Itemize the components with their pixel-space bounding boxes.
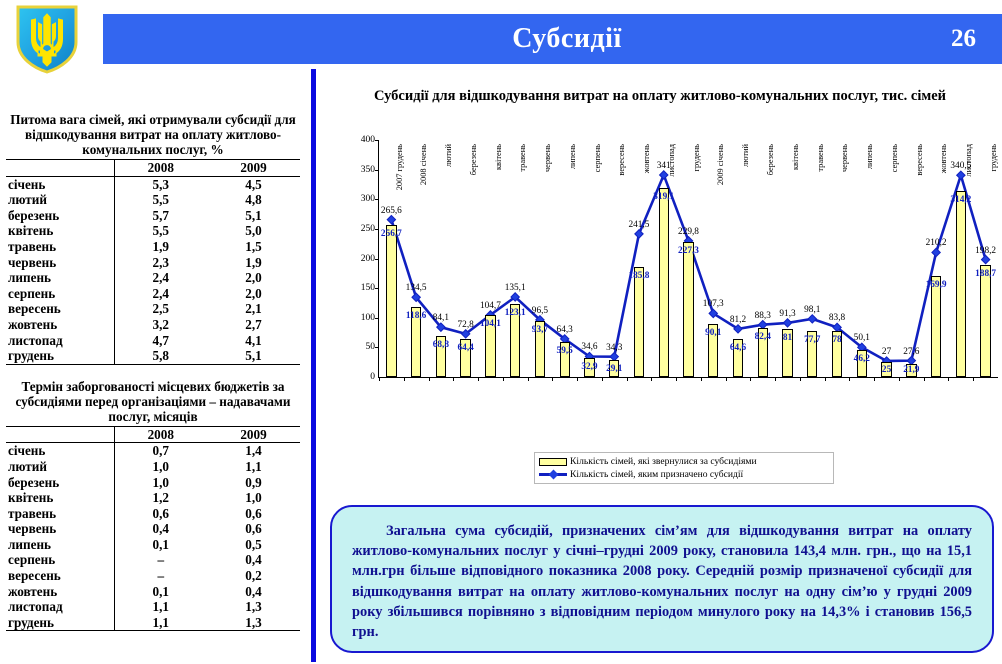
bar-value-label: 169,9 xyxy=(926,280,947,290)
table-row: травень1,91,5 xyxy=(6,239,300,255)
cell-2009: 0,6 xyxy=(207,521,300,537)
x-axis-tick-label: березень xyxy=(469,144,478,175)
cell-month: квітень xyxy=(6,223,114,239)
bar-value-label: 256,7 xyxy=(381,229,402,239)
cell-2009: 2,0 xyxy=(207,286,300,302)
x-axis-tick-label: квітень xyxy=(494,144,503,170)
y-axis-tick-mark xyxy=(375,347,379,348)
line-value-label: 96,5 xyxy=(532,306,548,316)
summary-note-box: Загальна сума субсидій, призначених сім’… xyxy=(330,505,994,653)
cell-2009: 1,0 xyxy=(207,490,300,506)
cell-2009: 1,3 xyxy=(207,615,300,631)
table-row: червень0,40,6 xyxy=(6,521,300,537)
cell-month: серпень xyxy=(6,286,114,302)
cell-2009: 1,1 xyxy=(207,459,300,475)
x-axis-tick-label: липень xyxy=(568,144,577,169)
x-axis-tick-label: грудень xyxy=(692,144,701,171)
cell-month: червень xyxy=(6,255,114,271)
x-axis-tick-mark xyxy=(701,377,702,381)
bar-value-label: 104,1 xyxy=(480,319,501,329)
line-value-label: 72,8 xyxy=(458,320,474,330)
cell-month: вересень xyxy=(6,301,114,317)
table-caption: Питома вага сімей, які отримували субсид… xyxy=(0,112,306,159)
line-value-label: 34,3 xyxy=(606,343,622,353)
cell-2008: – xyxy=(114,568,207,584)
chart-bar xyxy=(634,267,644,377)
bar-value-label: 59,5 xyxy=(557,346,573,356)
cell-2008: 1,0 xyxy=(114,475,207,491)
legend-label-bars: Кількість сімей, які звернулися за субси… xyxy=(570,456,757,467)
chart-line-marker xyxy=(783,319,791,327)
x-axis-tick-label: 2009 січень xyxy=(716,144,725,185)
x-axis-tick-label: березень xyxy=(766,144,775,175)
cell-2008: 5,3 xyxy=(114,176,207,192)
x-axis-tick-mark xyxy=(924,377,925,381)
table-row: березень1,00,9 xyxy=(6,475,300,491)
x-axis-tick-label: 2007 грудень xyxy=(395,144,404,190)
line-value-label: 27 xyxy=(882,347,891,357)
cell-month: лютий xyxy=(6,192,114,208)
cell-2008: 3,2 xyxy=(114,317,207,333)
bar-value-label: 78 xyxy=(832,335,841,345)
legend-swatch-bar-icon xyxy=(539,458,567,466)
x-axis-tick-label: червень xyxy=(543,144,552,172)
cell-2008: 2,5 xyxy=(114,301,207,317)
cell-2009: 0,4 xyxy=(207,584,300,600)
cell-month: грудень xyxy=(6,615,114,631)
bar-value-label: 29,1 xyxy=(606,364,622,374)
cell-2009: 2,1 xyxy=(207,301,300,317)
cell-2009: 4,1 xyxy=(207,333,300,349)
cell-2009: 1,5 xyxy=(207,239,300,255)
x-axis-tick-mark xyxy=(899,377,900,381)
x-axis-tick-mark xyxy=(577,377,578,381)
cell-2008: 5,5 xyxy=(114,223,207,239)
bar-value-label: 319,1 xyxy=(653,192,674,202)
table-row: червень2,31,9 xyxy=(6,255,300,271)
cell-month: січень xyxy=(6,443,114,459)
cell-2008: 1,1 xyxy=(114,615,207,631)
x-axis-tick-mark xyxy=(775,377,776,381)
line-value-label: 104,7 xyxy=(480,301,501,311)
line-value-label: 27,6 xyxy=(903,347,919,357)
cell-month: березень xyxy=(6,475,114,491)
bar-value-label: 32,9 xyxy=(581,362,597,372)
page-header: Субсидії 26 xyxy=(0,0,1002,78)
bar-value-label: 314,2 xyxy=(950,195,971,205)
x-axis-tick-label: квітень xyxy=(791,144,800,170)
x-axis-tick-label: червень xyxy=(840,144,849,172)
page-title: Субсидії xyxy=(103,23,951,55)
table-share-of-families: Питома вага сімей, які отримували субсид… xyxy=(0,112,306,365)
bar-value-label: 185,8 xyxy=(629,271,650,281)
cell-2009: 0,9 xyxy=(207,475,300,491)
chart-line-marker xyxy=(932,248,940,256)
line-value-label: 229,8 xyxy=(678,227,699,237)
ukraine-coat-of-arms-icon xyxy=(14,4,80,74)
line-value-label: 50,1 xyxy=(854,333,870,343)
table-row: лютий1,01,1 xyxy=(6,459,300,475)
chart-bar xyxy=(386,225,396,377)
cell-2008: 1,0 xyxy=(114,459,207,475)
x-axis-tick-label: жовтень xyxy=(642,144,651,173)
x-axis-tick-mark xyxy=(651,377,652,381)
y-axis-tick-label: 0 xyxy=(370,372,379,382)
bar-value-label: 64,6 xyxy=(730,343,746,353)
table-row: листопад4,74,1 xyxy=(6,333,300,349)
chart-line-marker xyxy=(981,255,989,263)
x-axis-tick-label: жовтень xyxy=(939,144,948,173)
chart-bar xyxy=(956,191,966,377)
table-row: січень0,71,4 xyxy=(6,443,300,459)
cell-2009: 0,4 xyxy=(207,552,300,568)
chart-title: Субсидії для відшкодування витрат на опл… xyxy=(318,82,1002,106)
table-row: грудень1,11,3 xyxy=(6,615,300,631)
cell-month: травень xyxy=(6,239,114,255)
cell-month: квітень xyxy=(6,490,114,506)
x-axis-tick-label: лютий xyxy=(444,144,453,167)
chart-legend: Кількість сімей, які звернулися за субси… xyxy=(534,452,834,484)
table-row: січень5,34,5 xyxy=(6,176,300,192)
x-axis-tick-mark xyxy=(602,377,603,381)
table-row: вересень–0,2 xyxy=(6,568,300,584)
table-header-row: 2008 2009 xyxy=(6,426,300,443)
cell-2008: 1,2 xyxy=(114,490,207,506)
bar-value-label: 77,7 xyxy=(804,335,820,345)
cell-2008: 5,7 xyxy=(114,208,207,224)
x-axis-tick-mark xyxy=(726,377,727,381)
cell-2008: 1,1 xyxy=(114,599,207,615)
column-header-month xyxy=(6,426,114,443)
cell-2009: 4,5 xyxy=(207,176,300,192)
x-axis-tick-mark xyxy=(429,377,430,381)
table-row: березень5,75,1 xyxy=(6,208,300,224)
x-axis-tick-label: серпень xyxy=(890,144,899,172)
page-number: 26 xyxy=(951,25,1002,53)
line-value-label: 198,2 xyxy=(975,246,996,256)
table-row: листопад1,11,3 xyxy=(6,599,300,615)
cell-2008: – xyxy=(114,552,207,568)
chart-bar xyxy=(931,276,941,377)
x-axis-tick-label: 2008 січень xyxy=(419,144,428,185)
x-axis-tick-mark xyxy=(825,377,826,381)
bar-value-label: 25 xyxy=(882,365,891,375)
chart-axes: 0501001502002503003504002007 грудень256,… xyxy=(378,140,998,378)
bar-value-label: 227,3 xyxy=(678,246,699,256)
chart-panel: Субсидії для відшкодування витрат на опл… xyxy=(318,82,1002,492)
bar-value-label: 93,7 xyxy=(532,325,548,335)
x-axis-tick-mark xyxy=(849,377,850,381)
cell-month: травень xyxy=(6,506,114,522)
x-axis-tick-mark xyxy=(404,377,405,381)
x-axis-tick-label: вересень xyxy=(915,144,924,176)
cell-2009: 1,3 xyxy=(207,599,300,615)
line-value-label: 88,3 xyxy=(755,311,771,321)
column-header-2008: 2008 xyxy=(114,426,207,443)
cell-2009: 4,8 xyxy=(207,192,300,208)
y-axis-tick-mark xyxy=(375,140,379,141)
chart-bar xyxy=(683,242,693,377)
cell-2009: 5,0 xyxy=(207,223,300,239)
table-row: липень0,10,5 xyxy=(6,537,300,553)
bar-value-label: 68,8 xyxy=(433,340,449,350)
x-axis-tick-mark xyxy=(552,377,553,381)
line-value-label: 34,6 xyxy=(581,342,597,352)
line-value-label: 134,5 xyxy=(406,283,427,293)
cell-2009: 5,1 xyxy=(207,348,300,364)
table-row: серпень2,42,0 xyxy=(6,286,300,302)
x-axis-tick-label: травень xyxy=(816,144,825,172)
y-axis-tick-mark xyxy=(375,288,379,289)
column-header-2009: 2009 xyxy=(207,160,300,177)
chart-bar xyxy=(659,188,669,377)
cell-2008: 0,4 xyxy=(114,521,207,537)
table-row: серпень–0,4 xyxy=(6,552,300,568)
table-row: жовтень0,10,4 xyxy=(6,584,300,600)
bar-value-label: 21,9 xyxy=(903,365,919,375)
column-header-month xyxy=(6,160,114,177)
table-row: липень2,42,0 xyxy=(6,270,300,286)
line-value-label: 341 xyxy=(657,161,671,171)
cell-month: жовтень xyxy=(6,584,114,600)
chart-line-marker xyxy=(387,215,395,223)
cell-month: серпень xyxy=(6,552,114,568)
chart-line-marker xyxy=(808,315,816,323)
line-value-label: 340,5 xyxy=(950,161,971,171)
bar-value-label: 90,1 xyxy=(705,328,721,338)
left-column: Питома вага сімей, які отримували субсид… xyxy=(0,112,306,631)
bar-value-label: 46,2 xyxy=(854,354,870,364)
cell-2008: 4,7 xyxy=(114,333,207,349)
bar-value-label: 123,1 xyxy=(505,308,526,318)
x-axis-tick-mark xyxy=(503,377,504,381)
x-axis-tick-label: травень xyxy=(518,144,527,172)
x-axis-tick-mark xyxy=(676,377,677,381)
x-axis-tick-mark xyxy=(627,377,628,381)
column-header-2009: 2009 xyxy=(207,426,300,443)
cell-month: вересень xyxy=(6,568,114,584)
table-row: травень0,60,6 xyxy=(6,506,300,522)
table-caption: Термін заборгованості місцевих бюджетів … xyxy=(0,379,306,426)
bar-value-label: 82,4 xyxy=(755,332,771,342)
cell-month: липень xyxy=(6,270,114,286)
cell-2009: 1,4 xyxy=(207,443,300,459)
line-value-label: 98,1 xyxy=(804,305,820,315)
x-axis-tick-mark xyxy=(453,377,454,381)
cell-2008: 5,8 xyxy=(114,348,207,364)
title-bar: Субсидії 26 xyxy=(103,14,1002,64)
table-row: квітень1,21,0 xyxy=(6,490,300,506)
cell-2008: 2,4 xyxy=(114,286,207,302)
bar-value-label: 188,7 xyxy=(975,269,996,279)
y-axis-tick-mark xyxy=(375,170,379,171)
chart-plot-area: 0501001502002503003504002007 грудень256,… xyxy=(352,140,1000,378)
x-axis-tick-mark xyxy=(948,377,949,381)
bar-value-label: 118,6 xyxy=(406,311,426,321)
cell-2009: 2,7 xyxy=(207,317,300,333)
bar-value-label: 81 xyxy=(783,333,792,343)
legend-label-line: Кількість сімей, яким призначено субсиді… xyxy=(570,469,743,480)
cell-month: січень xyxy=(6,176,114,192)
x-axis-tick-mark xyxy=(478,377,479,381)
legend-swatch-line-icon xyxy=(539,470,567,479)
x-axis-tick-mark xyxy=(973,377,974,381)
table-row: лютий5,54,8 xyxy=(6,192,300,208)
cell-month: листопад xyxy=(6,333,114,349)
chart-line-marker xyxy=(635,230,643,238)
x-axis-tick-mark xyxy=(874,377,875,381)
data-table: 2008 2009 січень0,71,4лютий1,01,1березен… xyxy=(6,426,300,632)
cell-2008: 0,1 xyxy=(114,584,207,600)
summary-note-text: Загальна сума субсидій, призначених сім’… xyxy=(352,521,972,642)
cell-month: червень xyxy=(6,521,114,537)
table-row: жовтень3,22,7 xyxy=(6,317,300,333)
x-axis-tick-mark xyxy=(528,377,529,381)
column-header-2008: 2008 xyxy=(114,160,207,177)
cell-2009: 0,5 xyxy=(207,537,300,553)
cell-month: грудень xyxy=(6,348,114,364)
x-axis-tick-label: лютий xyxy=(741,144,750,167)
line-value-label: 81,2 xyxy=(730,315,746,325)
cell-month: жовтень xyxy=(6,317,114,333)
cell-month: березень xyxy=(6,208,114,224)
x-axis-tick-label: вересень xyxy=(617,144,626,176)
cell-2009: 0,6 xyxy=(207,506,300,522)
table-row: квітень5,55,0 xyxy=(6,223,300,239)
cell-2008: 1,9 xyxy=(114,239,207,255)
line-value-label: 241,5 xyxy=(629,220,650,230)
table-row: вересень2,52,1 xyxy=(6,301,300,317)
x-axis-tick-mark xyxy=(800,377,801,381)
table-header-row: 2008 2009 xyxy=(6,160,300,177)
cell-2009: 2,0 xyxy=(207,270,300,286)
x-axis-tick-label: липень xyxy=(865,144,874,169)
y-axis-tick-mark xyxy=(375,199,379,200)
legend-item-bars: Кількість сімей, які звернулися за субси… xyxy=(539,456,829,467)
line-value-label: 210,2 xyxy=(926,238,947,248)
y-axis-tick-mark xyxy=(375,229,379,230)
x-axis-tick-mark xyxy=(750,377,751,381)
cell-2008: 0,1 xyxy=(114,537,207,553)
line-value-label: 265,6 xyxy=(381,206,402,216)
cell-2008: 2,3 xyxy=(114,255,207,271)
data-table: 2008 2009 січень5,34,5лютий5,54,8березен… xyxy=(6,159,300,365)
cell-2008: 0,7 xyxy=(114,443,207,459)
vertical-divider xyxy=(311,69,316,662)
cell-2008: 0,6 xyxy=(114,506,207,522)
cell-month: лютий xyxy=(6,459,114,475)
line-value-label: 64,3 xyxy=(557,325,573,335)
cell-2009: 0,2 xyxy=(207,568,300,584)
cell-2008: 2,4 xyxy=(114,270,207,286)
y-axis-tick-mark xyxy=(375,259,379,260)
line-value-label: 107,3 xyxy=(703,299,724,309)
bar-value-label: 64,4 xyxy=(458,343,474,353)
x-axis-tick-label: грудень xyxy=(989,144,998,171)
chart-bar xyxy=(980,265,990,377)
table-debt-term: Термін заборгованості місцевих бюджетів … xyxy=(0,379,306,632)
table-row: грудень5,85,1 xyxy=(6,348,300,364)
y-axis-tick-mark xyxy=(375,318,379,319)
line-value-label: 83,8 xyxy=(829,313,845,323)
cell-2008: 5,5 xyxy=(114,192,207,208)
cell-month: липень xyxy=(6,537,114,553)
cell-2009: 5,1 xyxy=(207,208,300,224)
line-value-label: 135,1 xyxy=(505,283,526,293)
legend-item-line: Кількість сімей, яким призначено субсиді… xyxy=(539,469,829,480)
x-axis-tick-label: серпень xyxy=(593,144,602,172)
x-axis-tick-mark xyxy=(379,377,380,381)
cell-month: листопад xyxy=(6,599,114,615)
line-value-label: 91,3 xyxy=(779,309,795,319)
line-value-label: 84,1 xyxy=(433,313,449,323)
cell-2009: 1,9 xyxy=(207,255,300,271)
